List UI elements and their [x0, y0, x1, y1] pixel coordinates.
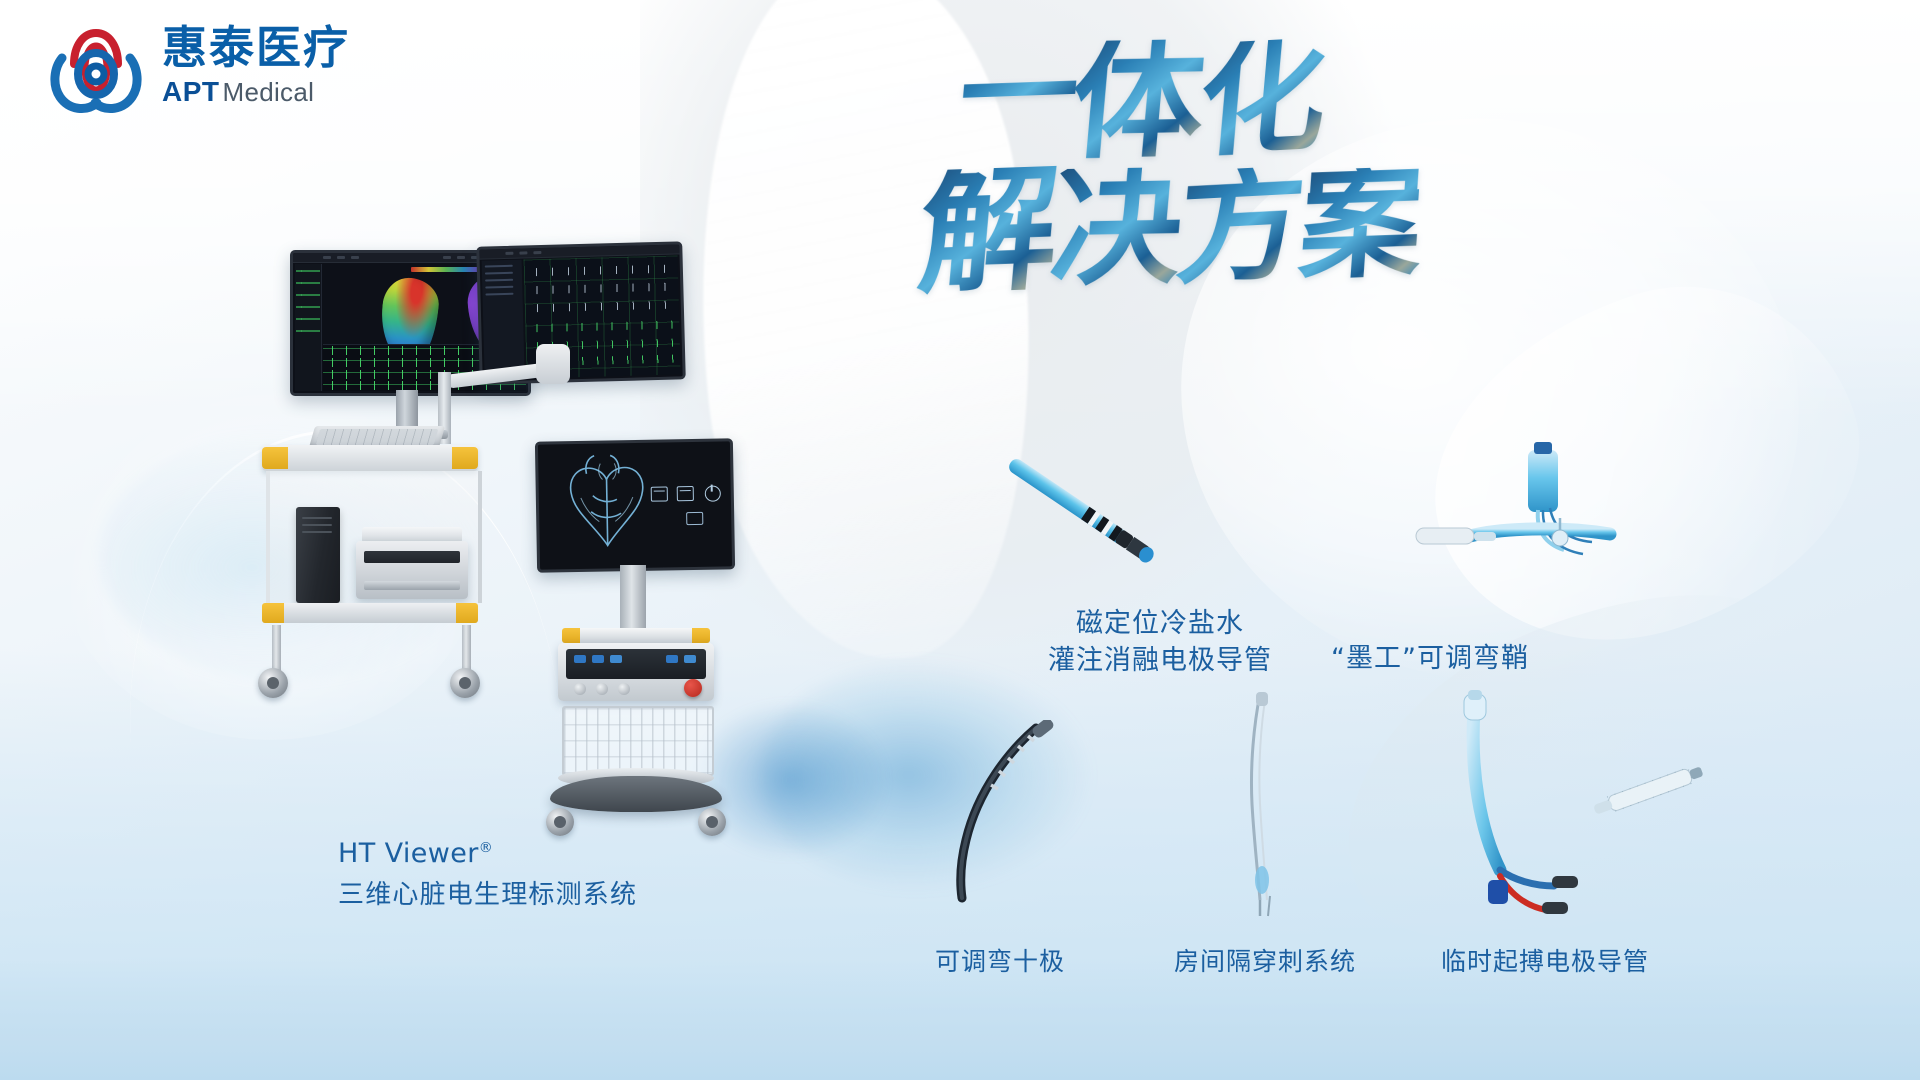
headline-char: 一 — [955, 38, 1083, 151]
power-icon[interactable] — [705, 486, 721, 502]
brand-name-en-light: Medical — [223, 77, 315, 108]
shelf-accent-left — [562, 628, 580, 643]
map-color-scale — [411, 267, 481, 272]
printer — [356, 541, 468, 599]
temporary-pacing-catheter-image — [1460, 690, 1710, 920]
brand-name-en: APT Medical — [162, 76, 350, 108]
cart-bottom-shelf — [262, 603, 478, 623]
caption-irrigated-ablation-catheter: 磁定位冷盐水 灌注消融电极导管 — [1020, 605, 1300, 680]
caption-line-1: 临时起搏电极导管 — [1420, 945, 1670, 980]
ecg-monitor-screen — [479, 244, 682, 381]
lead-list-panel — [482, 260, 525, 380]
steerable-decapolar-image — [940, 720, 1060, 920]
display-post — [620, 565, 646, 631]
cart-caster-right — [450, 668, 480, 698]
ecg-recording-monitor — [476, 241, 686, 384]
rf-generator-panel — [566, 649, 706, 679]
headline-char: 决 — [1047, 167, 1188, 289]
workstation-caption: HT Viewer® 三维心脏电生理标测系统 — [338, 838, 637, 911]
headline-line-2: 解 决 方 案 — [920, 168, 1422, 295]
caption-line-1: 可调弯十极 — [900, 945, 1100, 980]
cart-body — [262, 445, 478, 625]
brand-logo: 惠泰医疗 APT Medical — [44, 18, 350, 114]
signal-list-panel — [295, 264, 322, 391]
cart-caster-left — [258, 668, 288, 698]
rf-generator-cart — [528, 440, 768, 860]
headline-calligraphy: 一 体 化 解 决 方 案 — [960, 40, 1620, 340]
rf-power-knob[interactable] — [684, 679, 702, 697]
cart-leg-left — [272, 625, 281, 673]
shelf-accent-right — [452, 447, 478, 469]
caption-steerable-decapolar: 可调弯十极 — [900, 945, 1100, 980]
generator-shelf — [562, 628, 710, 643]
workstation-name-en: HT Viewer® — [338, 838, 637, 869]
headline-char: 体 — [1067, 39, 1210, 163]
steerable-sheath-image — [1410, 440, 1640, 580]
cart-caster-left — [546, 808, 574, 836]
caption-line-2: 灌注消融电极导管 — [1020, 642, 1300, 679]
cart-column — [266, 471, 482, 603]
headline-char: 方 — [1173, 165, 1310, 287]
workstation-name-cn: 三维心脏电生理标测系统 — [338, 874, 637, 911]
shelf-accent-left — [262, 447, 288, 469]
cart-top-shelf — [262, 445, 478, 471]
computer-tower — [296, 507, 340, 603]
irrigated-ablation-catheter-image — [990, 450, 1170, 570]
caption-steerable-sheath: “墨工”可调弯鞘 — [1300, 640, 1560, 677]
shelf-accent-left — [262, 603, 284, 623]
window-icon[interactable] — [686, 512, 703, 525]
window-icon[interactable] — [677, 486, 694, 501]
apt-medical-interlocking-rings-logo-icon — [44, 18, 148, 114]
caption-line-1: 磁定位冷盐水 — [1020, 605, 1300, 642]
caption-transseptal-puncture-system: 房间隔穿刺系统 — [1150, 945, 1380, 980]
headline-char: 化 — [1195, 37, 1332, 159]
headline-line-1: 一 体 化 — [960, 40, 1326, 161]
brand-name-cn: 惠泰医疗 — [162, 24, 350, 71]
caption-line-1: 房间隔穿刺系统 — [1150, 945, 1380, 980]
brand-name-en-bold: APT — [162, 76, 220, 108]
rf-generator-unit — [558, 643, 714, 701]
brand-wordmark: 惠泰医疗 APT Medical — [162, 24, 350, 107]
window-icon[interactable] — [651, 486, 668, 501]
headline-char: 解 — [914, 166, 1064, 298]
caption-temporary-pacing-catheter: 临时起搏电极导管 — [1420, 945, 1670, 980]
shelf-accent-right — [456, 603, 478, 623]
cart-caster-right — [698, 808, 726, 836]
caption-line-1: “墨工”可调弯鞘 — [1300, 640, 1560, 677]
cart-leg-right — [462, 625, 471, 673]
display-icon-row — [651, 486, 721, 503]
cart-base — [550, 776, 722, 812]
printer-output-slot — [364, 581, 460, 590]
wireframe-heart-icon — [556, 451, 658, 558]
headline-char: 案 — [1296, 166, 1426, 282]
monitor-arm-joint — [536, 344, 570, 384]
heart-display-monitor — [535, 438, 735, 572]
cart-storage-basket — [562, 706, 714, 776]
shelf-accent-right — [692, 628, 710, 643]
printer-tray — [364, 551, 460, 563]
transseptal-puncture-system-image — [1230, 690, 1290, 920]
poster-canvas: 惠泰医疗 APT Medical 一 体 化 解 决 方 案 — [0, 0, 1920, 1080]
